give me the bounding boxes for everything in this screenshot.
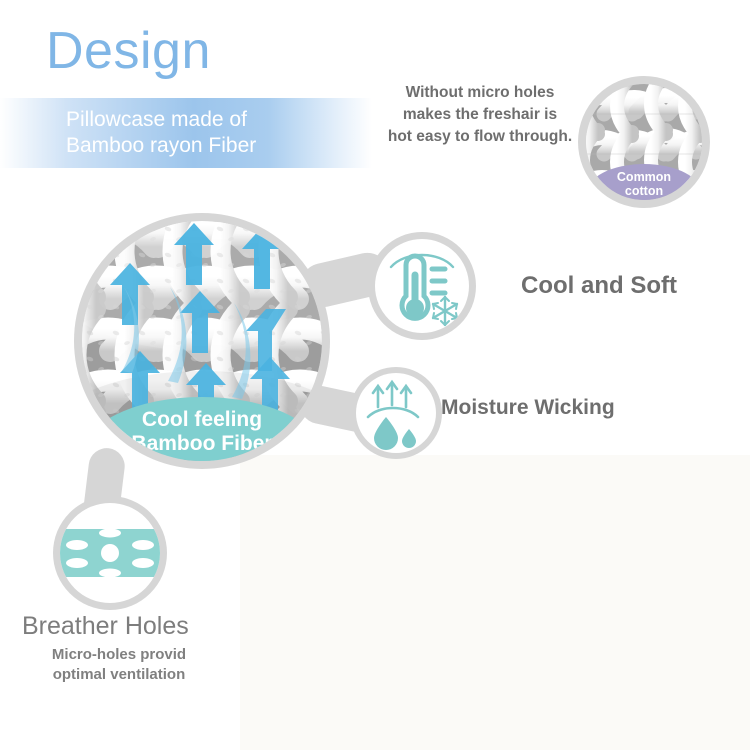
page-title: Design [46, 25, 211, 77]
breather-holes-subtitle: Micro-holes provid optimal ventilation [24, 645, 214, 685]
cotton-banner-line-2: cotton [625, 184, 663, 198]
note-line-3: hot easy to flow through. [385, 126, 575, 148]
banner-line-2: Bamboo rayon Fiber [66, 133, 372, 159]
thermometer-snowflake-icon [375, 239, 469, 333]
note-line-1: Without micro holes [385, 82, 575, 104]
feature-label-cool-and-soft: Cool and Soft [521, 272, 677, 300]
breather-holes-title: Breather Holes [22, 612, 189, 641]
infographic-canvas: Design Pillowcase made of Bamboo rayon F… [0, 0, 750, 750]
breather-sub-line-1: Micro-holes provid [24, 645, 214, 665]
banner-line-1: Pillowcase made of [66, 107, 372, 133]
without-micro-holes-note: Without micro holes makes the freshair i… [385, 82, 575, 148]
common-cotton-circle: Common cotton [586, 84, 702, 200]
cool-and-soft-circle[interactable] [375, 239, 469, 333]
photo-background [240, 455, 750, 750]
baby-on-pillow-photo [240, 455, 750, 750]
moisture-arrows-droplet-icon [356, 373, 436, 453]
bamboo-fiber-circle: Cool feeling Bamboo Fiber [82, 221, 322, 461]
feature-label-moisture-wicking: Moisture Wicking [441, 396, 615, 420]
bamboo-banner-line-1: Cool feeling [142, 408, 262, 432]
cotton-banner-line-1: Common [617, 170, 671, 184]
moisture-wicking-circle[interactable] [356, 373, 436, 453]
note-line-2: makes the freshair is [385, 104, 575, 126]
breather-holes-icon [60, 503, 160, 603]
breather-holes-circle[interactable] [60, 503, 160, 603]
breather-sub-line-2: optimal ventilation [24, 665, 214, 685]
bamboo-banner-line-2: Bamboo Fiber [131, 432, 272, 456]
header-banner-text: Pillowcase made of Bamboo rayon Fiber [0, 98, 372, 168]
